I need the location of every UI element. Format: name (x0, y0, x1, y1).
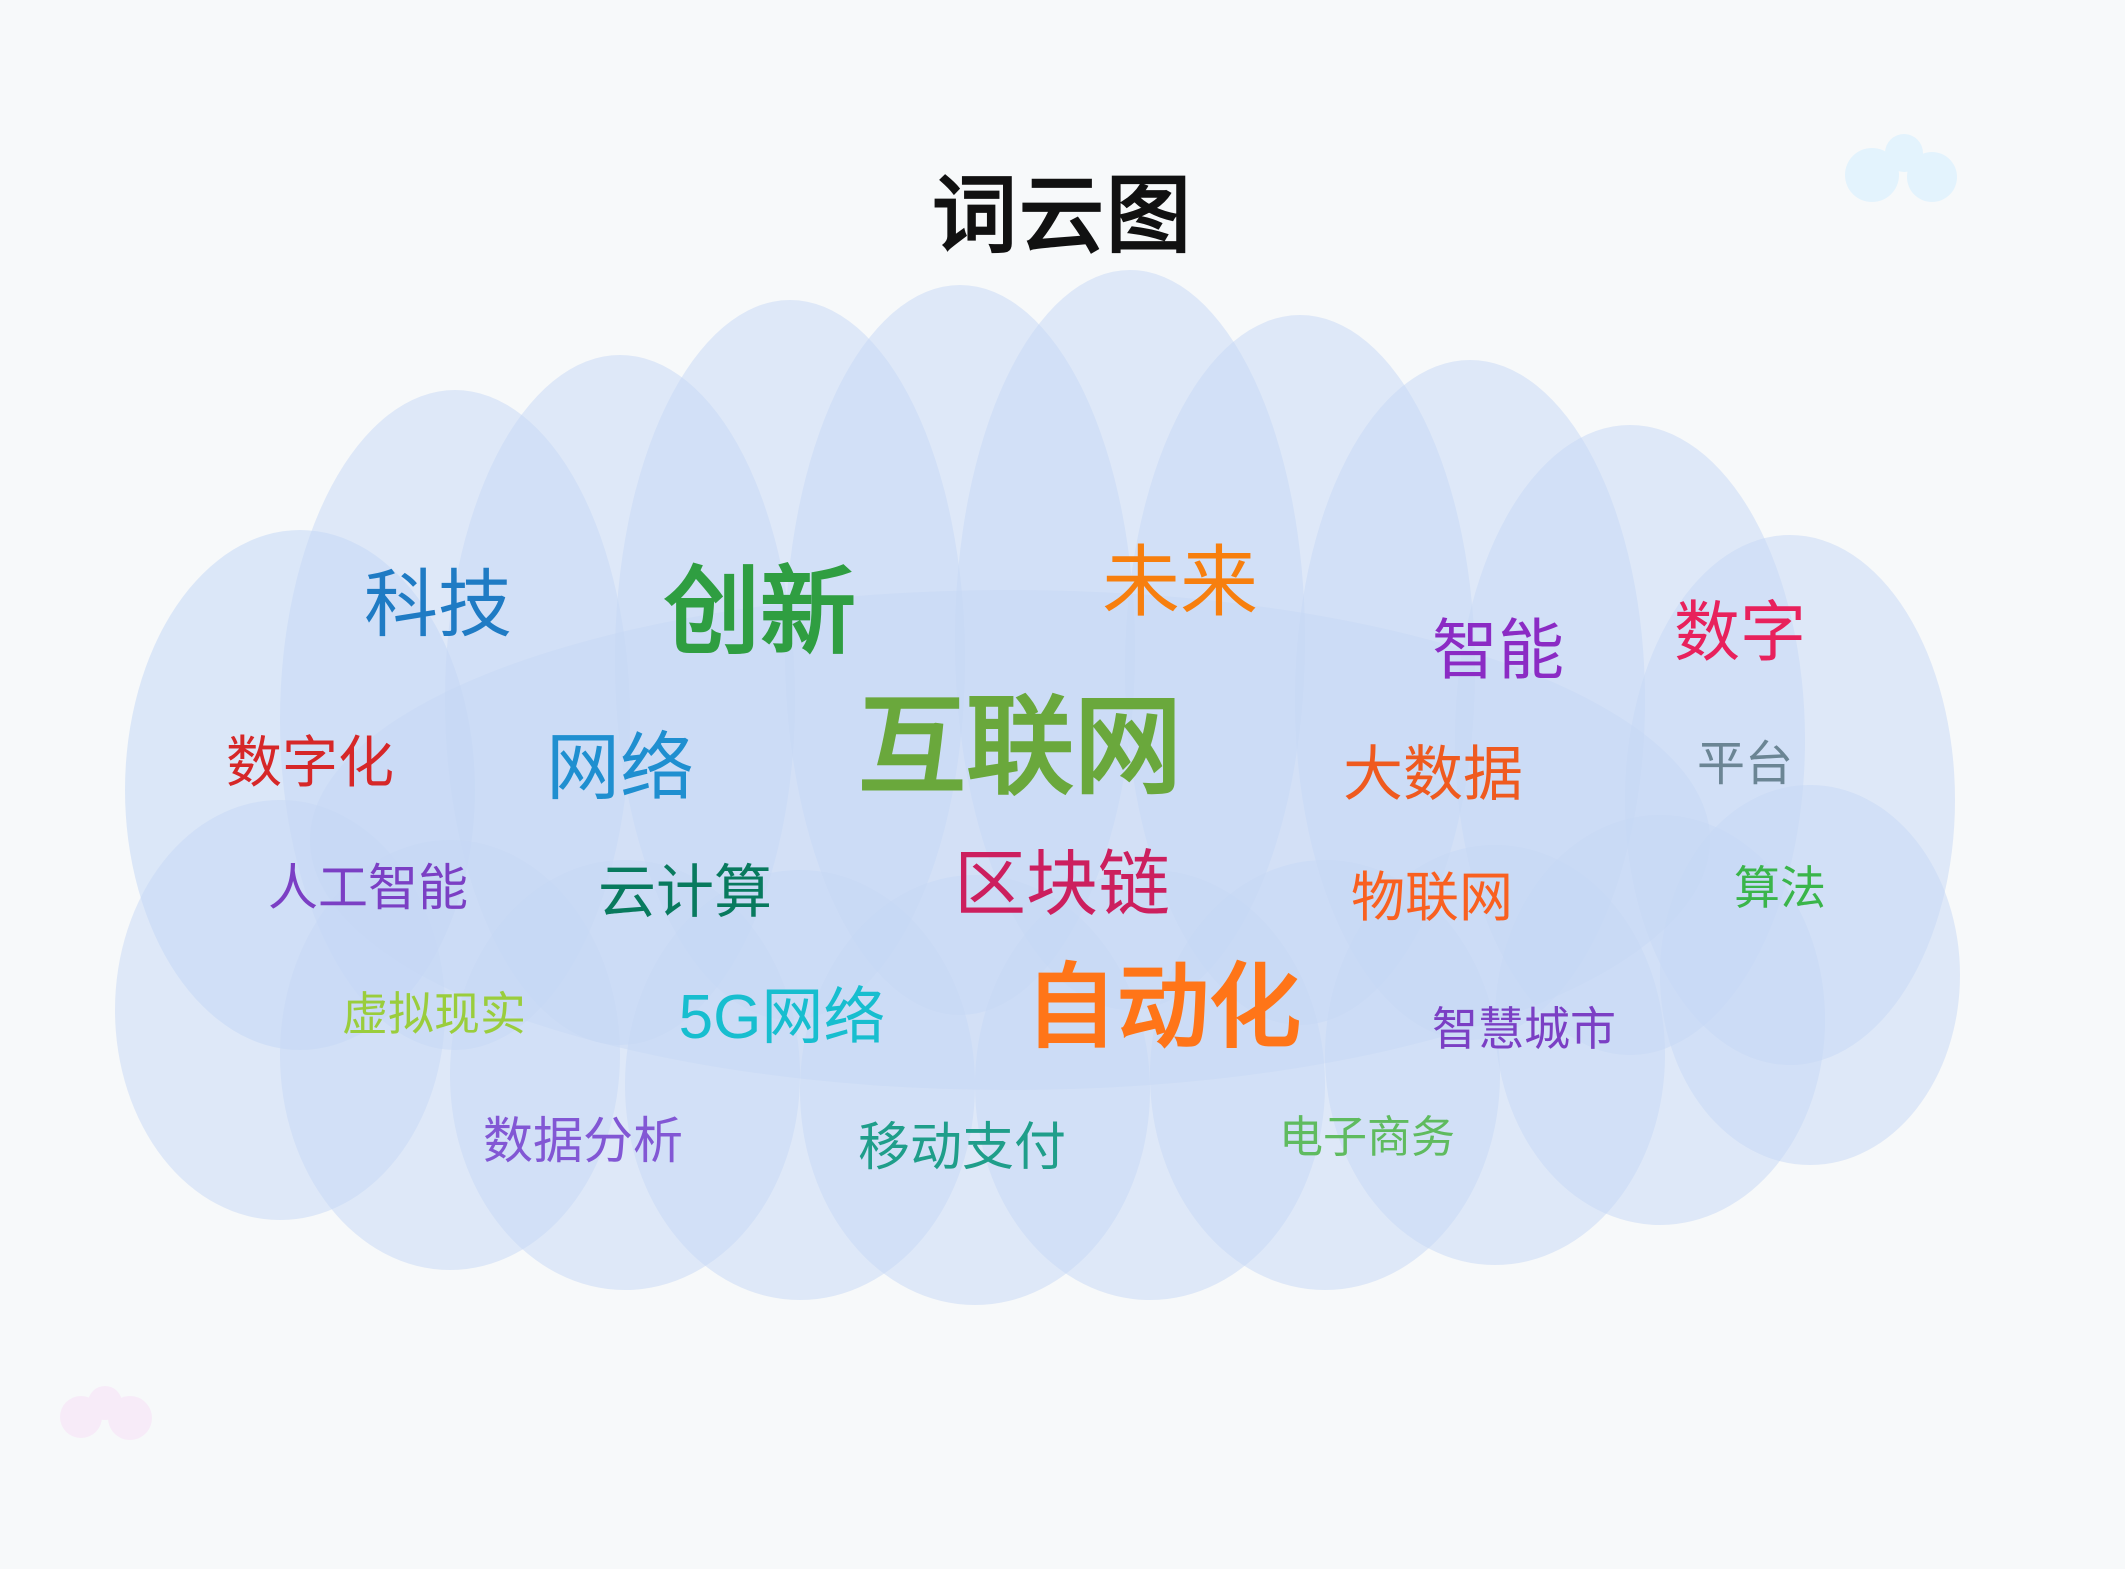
wordcloud-word[interactable]: 大数据 (1343, 745, 1523, 805)
wordcloud-canvas: 词云图 互联网创新自动化未来区块链科技网络智能数字大数据5G网络云计算数字化物联… (0, 0, 2125, 1569)
wordcloud-word[interactable]: 创新 (664, 565, 856, 661)
wordcloud-word[interactable]: 虚拟现实 (342, 991, 526, 1037)
wordcloud-word[interactable]: 电子商务 (1279, 1116, 1455, 1160)
wordcloud-word[interactable]: 科技 (364, 568, 512, 642)
wordcloud-word[interactable]: 网络 (546, 731, 694, 805)
wordcloud-word-layer: 互联网创新自动化未来区块链科技网络智能数字大数据5G网络云计算数字化物联网移动支… (0, 0, 2125, 1569)
wordcloud-word[interactable]: 自动化 (1025, 962, 1301, 1054)
wordcloud-word[interactable]: 智慧城市 (1432, 1006, 1616, 1052)
wordcloud-word[interactable]: 数字化 (226, 735, 394, 791)
wordcloud-word[interactable]: 未来 (1102, 543, 1258, 621)
wordcloud-word[interactable]: 算法 (1734, 865, 1826, 911)
wordcloud-word[interactable]: 智能 (1432, 617, 1564, 683)
wordcloud-word[interactable]: 平台 (1697, 741, 1793, 789)
wordcloud-word[interactable]: 云计算 (598, 864, 772, 922)
wordcloud-word[interactable]: 物联网 (1351, 871, 1513, 925)
wordcloud-word[interactable]: 数据分析 (483, 1116, 683, 1166)
wordcloud-word[interactable]: 区块链 (954, 849, 1170, 921)
wordcloud-word[interactable]: 5G网络 (679, 987, 886, 1049)
wordcloud-word[interactable]: 人工智能 (268, 863, 468, 913)
wordcloud-word[interactable]: 互联网 (858, 693, 1182, 801)
wordcloud-word[interactable]: 移动支付 (858, 1122, 1066, 1174)
wordcloud-word[interactable]: 数字 (1674, 599, 1806, 665)
